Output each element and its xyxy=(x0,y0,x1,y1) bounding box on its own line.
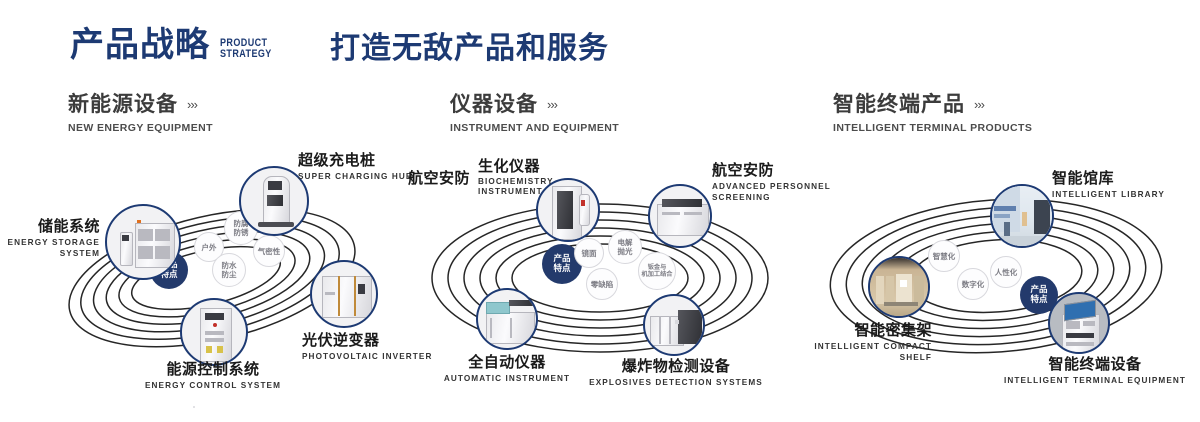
label-intelligent-compact-shelf: 智能密集架 INTELLIGENT COMPACT SHELF xyxy=(780,322,932,363)
node-advanced-personnel-screening[interactable] xyxy=(648,184,712,248)
node-photovoltaic-inverter[interactable] xyxy=(310,260,378,328)
label-biochemistry-instrument: 生化仪器 BIOCHEMISTRY INSTRUMENT xyxy=(478,158,593,197)
smart-library-photo-icon xyxy=(992,186,1052,246)
core-badge-text: 产品特点 xyxy=(1030,285,1047,305)
control-cabinet-icon xyxy=(182,300,246,364)
section-title-en: INTELLIGENT TERMINAL PRODUCTS xyxy=(833,122,1032,134)
poster-canvas: 产品战略 PRODUCT STRATEGY 打造无敌产品和服务 新能源设备 ››… xyxy=(0,0,1200,422)
headline-slogan: 打造无敌产品和服务 xyxy=(330,32,609,65)
energy-storage-cabinet-icon xyxy=(107,206,179,278)
node-energy-control-system[interactable] xyxy=(180,298,248,366)
feature-bubble: 电解抛光 xyxy=(608,230,642,264)
section-title-en: INSTRUMENT AND EQUIPMENT xyxy=(450,122,619,134)
section-title-intelligent-terminal: 智能终端产品 ››› INTELLIGENT TERMINAL PRODUCTS xyxy=(833,94,1032,134)
compact-shelf-photo-icon xyxy=(870,258,928,316)
feature-bubble: 钣金与机加工结合 xyxy=(638,252,676,290)
feature-bubble: 镜面 xyxy=(574,238,604,268)
chevron-right-icon: ››› xyxy=(974,98,984,111)
feature-bubble: 数字化 xyxy=(957,268,989,300)
diagram-group-new-energy: 产品特点 户外 防腐防锈 防水防尘 气密性 xyxy=(0,150,420,400)
section-title-cn: 新能源设备 xyxy=(68,94,178,115)
screening-machine-icon xyxy=(650,186,710,246)
feature-bubble: 智慧化 xyxy=(928,240,960,272)
section-title-cn: 智能终端产品 xyxy=(833,94,965,115)
brand-header: 产品战略 PRODUCT STRATEGY xyxy=(70,28,283,62)
brand-title-en: PRODUCT STRATEGY xyxy=(220,38,283,60)
feature-bubble: 防水防尘 xyxy=(212,253,246,287)
node-automatic-instrument[interactable] xyxy=(476,288,538,350)
core-badge-text: 产品特点 xyxy=(553,254,570,274)
brand-title-en-line2: STRATEGY xyxy=(220,49,272,60)
diagram-group-intelligent-terminal: 智慧化 数字化 人性化 产品特点 智 xyxy=(800,150,1200,400)
chevron-right-icon: ››› xyxy=(187,98,197,111)
label-explosives-detection-systems: 爆炸物检测设备 EXPLOSIVES DETECTION SYSTEMS xyxy=(556,358,796,388)
self-service-kiosk-icon xyxy=(1050,294,1108,352)
feature-bubble: 零缺陷 xyxy=(586,268,618,300)
label-energy-control-system: 能源控制系统 ENERGY CONTROL SYSTEM xyxy=(88,361,338,391)
section-title-cn: 仪器设备 xyxy=(450,94,538,115)
node-intelligent-compact-shelf[interactable] xyxy=(868,256,930,318)
section-title-new-energy: 新能源设备 ››› NEW ENERGY EQUIPMENT xyxy=(68,94,213,134)
pv-inverter-cabinet-icon xyxy=(312,262,376,326)
node-energy-storage-system[interactable] xyxy=(105,204,181,280)
feature-bubble: 气密性 xyxy=(253,235,285,267)
chevron-right-icon: ››› xyxy=(547,98,557,111)
brand-title-cn: 产品战略 xyxy=(70,28,210,62)
node-explosives-detection-systems[interactable] xyxy=(643,294,705,356)
node-intelligent-library[interactable] xyxy=(990,184,1054,248)
section-title-instrument: 仪器设备 ››› INSTRUMENT AND EQUIPMENT xyxy=(450,94,619,134)
automatic-analyzer-icon xyxy=(478,290,536,348)
label-energy-storage-system: 储能系统 ENERGY STORAGE SYSTEM xyxy=(0,218,100,259)
label-intelligent-terminal-equipment: 智能终端设备 INTELLIGENT TERMINAL EQUIPMENT xyxy=(990,356,1200,386)
section-title-en: NEW ENERGY EQUIPMENT xyxy=(68,122,213,134)
diagram-group-instrument: 产品特点 镜面 电解抛光 零缺陷 钣金与机加工结合 航空安防 xyxy=(400,150,820,400)
feature-bubble: 人性化 xyxy=(990,256,1022,288)
node-intelligent-terminal-equipment[interactable] xyxy=(1048,292,1110,354)
explosives-detector-icon xyxy=(645,296,703,354)
label-intelligent-library: 智能馆库 INTELLIGENT LIBRARY xyxy=(1052,170,1192,200)
